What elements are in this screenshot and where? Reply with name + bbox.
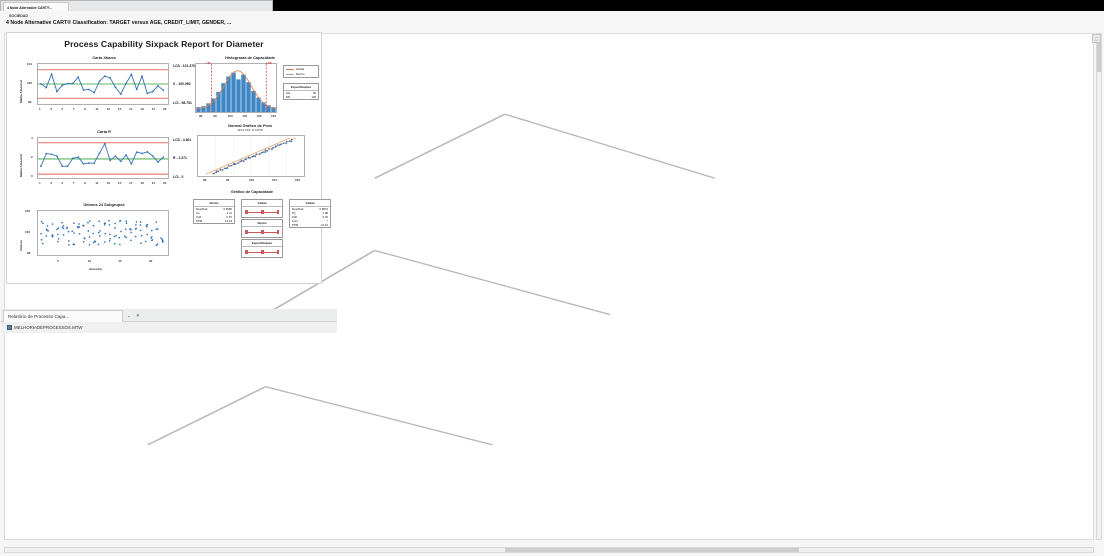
subgroups-title: Últimos 24 Subgrupos: [29, 202, 179, 207]
sg-ytick-98: 98: [27, 251, 30, 255]
cart-vertical-scrollbar[interactable]: [1096, 33, 1102, 540]
legend-label-global: Global: [296, 67, 304, 71]
axis-tick: 21: [152, 181, 155, 185]
overall-stats-title: Global: [290, 200, 330, 207]
spec-row1-v: 100: [311, 95, 316, 99]
axis-tick: 3: [50, 181, 52, 185]
capability-worksheet-line: MELHORIADEPROCESSOS.MTW: [1, 322, 337, 333]
chart-graphics: [38, 211, 168, 255]
axis-tick: 102: [257, 114, 262, 118]
capability-worksheet-name: MELHORIADEPROCESSOS.MTW: [14, 325, 83, 330]
capability-chart-title: Process Capability Sixpack Report for Di…: [7, 33, 321, 49]
axis-tick: 7: [73, 107, 75, 111]
axis-tick: 101: [272, 178, 277, 182]
subgroups-ylabel: Valores: [19, 240, 23, 251]
r-plot-box[interactable]: [37, 137, 169, 179]
axis-tick: 19: [140, 107, 143, 111]
chart-graphics: [38, 138, 168, 178]
axis-tick: 9: [84, 181, 86, 185]
subgroups-xlabel: Amostra: [89, 267, 102, 271]
axis-tick: 11: [95, 181, 98, 185]
axis-tick: 102: [295, 178, 300, 182]
sg-ytick-100: 100: [25, 230, 30, 234]
histogram-plot-box[interactable]: [195, 63, 277, 113]
within-stats-box: Dentro DesvPad0.9566 Cp1.11 CpK0.97 PPM1…: [193, 199, 235, 224]
r-ytick-2: 2: [31, 155, 33, 159]
overall-marker-box: Global: [241, 199, 283, 218]
spec-box: Especificações LIE99 DR100: [283, 83, 319, 100]
axis-tick: 11: [95, 107, 98, 111]
axis-tick: 15: [118, 181, 121, 185]
cart-vertical-scroll-thumb[interactable]: [1097, 38, 1101, 72]
axis-tick: 20: [149, 259, 152, 263]
r-ytick-4: 4: [31, 136, 33, 140]
within-marker-line: [244, 228, 280, 236]
within-marker-label: Dentro: [242, 220, 282, 227]
normal-plot-subtitle: AD:0.201; P:0.878: [195, 128, 305, 132]
axis-tick: 15: [118, 259, 121, 263]
axis-tick: 13: [107, 107, 110, 111]
desktop-background: Heatmap of Property Damage Urban Mean: P…: [0, 0, 1104, 556]
axis-tick: 10: [88, 259, 91, 263]
xbar-ylabel: Média Amostral: [19, 80, 23, 103]
legend-swatch-global: [286, 69, 294, 70]
r-chart-title: Carta R: [29, 129, 179, 134]
capability-tab-controls[interactable]: ⌄ ✕: [127, 313, 142, 319]
xbar-plot-box[interactable]: [37, 63, 169, 105]
capability-plot-title: Gráfico de Capacidade: [192, 189, 312, 194]
axis-tick: 21: [152, 107, 155, 111]
axis-tick: 1: [39, 181, 41, 185]
capability-tab-strip[interactable]: Relatório de Processo Capa... ⌄ ✕: [1, 309, 337, 322]
axis-tick: 5: [62, 181, 64, 185]
spec-row1-k: DR: [286, 95, 290, 99]
axis-tick: 100: [228, 114, 233, 118]
cart-title: 4 Node Alternative CART® Classification:…: [0, 18, 1104, 29]
worksheet-icon: [7, 325, 12, 330]
sg-ytick-102: 102: [25, 209, 30, 213]
r-ytick-0: 0: [31, 174, 33, 178]
axis-tick: 19: [140, 181, 143, 185]
histogram-title: Histograma de Capacidade: [195, 55, 305, 60]
r-annot-center: R - 2.271: [173, 156, 187, 160]
axis-tick: 99: [213, 114, 216, 118]
overall-stats-box: Global DesvPad0.9873 Pp1.08 PpK0.94 Cpm*…: [289, 199, 331, 228]
axis-tick: 5: [62, 107, 64, 111]
spec-marker-box: Especificações: [241, 239, 283, 258]
axis-tick: 98: [203, 178, 206, 182]
axis-tick: 23: [163, 107, 166, 111]
xbar-annot-ucl: LCS - 101.370: [173, 64, 195, 68]
xbar-ytick-99: 99: [28, 100, 31, 104]
histogram-lse-mark: LSE: [266, 61, 272, 65]
legend-swatch-within: [286, 74, 294, 75]
r-annot-lcl: LCI - 0: [173, 175, 183, 179]
overall-marker-line: [244, 208, 280, 216]
axis-tick: 3: [50, 107, 52, 111]
within-stats-title: Dentro: [194, 200, 234, 207]
ov-r4k: PPM: [292, 223, 298, 227]
normal-plot-box[interactable]: [197, 135, 305, 177]
axis-tick: 1: [39, 107, 41, 111]
r-annot-ucl: LCS - 4.801: [173, 138, 191, 142]
chart-graphics: [38, 64, 168, 104]
capability-expand-button[interactable]: ⬚: [1092, 34, 1101, 43]
chart-graphics: [196, 64, 276, 112]
r-ylabel: Média Amostral: [19, 154, 23, 177]
axis-tick: 7: [73, 181, 75, 185]
histogram-lie-mark: LIE: [206, 61, 211, 65]
axis-tick: 17: [129, 181, 132, 185]
axis-tick: 100: [249, 178, 254, 182]
cart-subheading: SOCIEDAD: [0, 11, 1104, 18]
within-marker-box: Dentro: [241, 219, 283, 238]
capability-tab[interactable]: Relatório de Processo Capa...: [3, 310, 123, 322]
subgroups-plot-box[interactable]: [37, 210, 169, 256]
ov-r4v: 12.01: [321, 223, 328, 227]
chart-graphics: [198, 136, 304, 176]
histogram-legend: Global Dentro: [283, 65, 319, 78]
spec-marker-label: Especificações: [242, 240, 282, 247]
xbar-chart-title: Carta Xbarra: [29, 55, 179, 60]
axis-tick: 98: [199, 114, 202, 118]
overall-marker-label: Global: [242, 200, 282, 207]
axis-tick: 9: [84, 107, 86, 111]
within-r3k: PPM: [196, 219, 202, 223]
xbar-ytick-101: 101: [27, 62, 32, 66]
xbar-annot-center: X - 100.060: [173, 82, 191, 86]
axis-tick: 15: [118, 107, 121, 111]
legend-label-within: Dentro: [296, 72, 304, 76]
xbar-annot-lcl: LCI - 98.751: [173, 101, 192, 105]
cart-horizontal-scrollbar[interactable]: [4, 547, 1094, 553]
axis-tick: 23: [163, 181, 166, 185]
cart-horizontal-scroll-thumb[interactable]: [505, 548, 799, 552]
axis-tick: 101: [242, 114, 247, 118]
axis-tick: 5: [57, 259, 59, 263]
xbar-ytick-100: 100: [27, 81, 32, 85]
axis-tick: 99: [226, 178, 229, 182]
axis-tick: 103: [271, 114, 276, 118]
spec-marker-line: [244, 248, 280, 256]
capability-canvas[interactable]: Process Capability Sixpack Report for Di…: [6, 32, 322, 284]
spec-box-title: Especificações: [284, 84, 318, 91]
axis-tick: 13: [107, 181, 110, 185]
within-r3v: 13.43: [225, 219, 232, 223]
axis-tick: 17: [129, 107, 132, 111]
